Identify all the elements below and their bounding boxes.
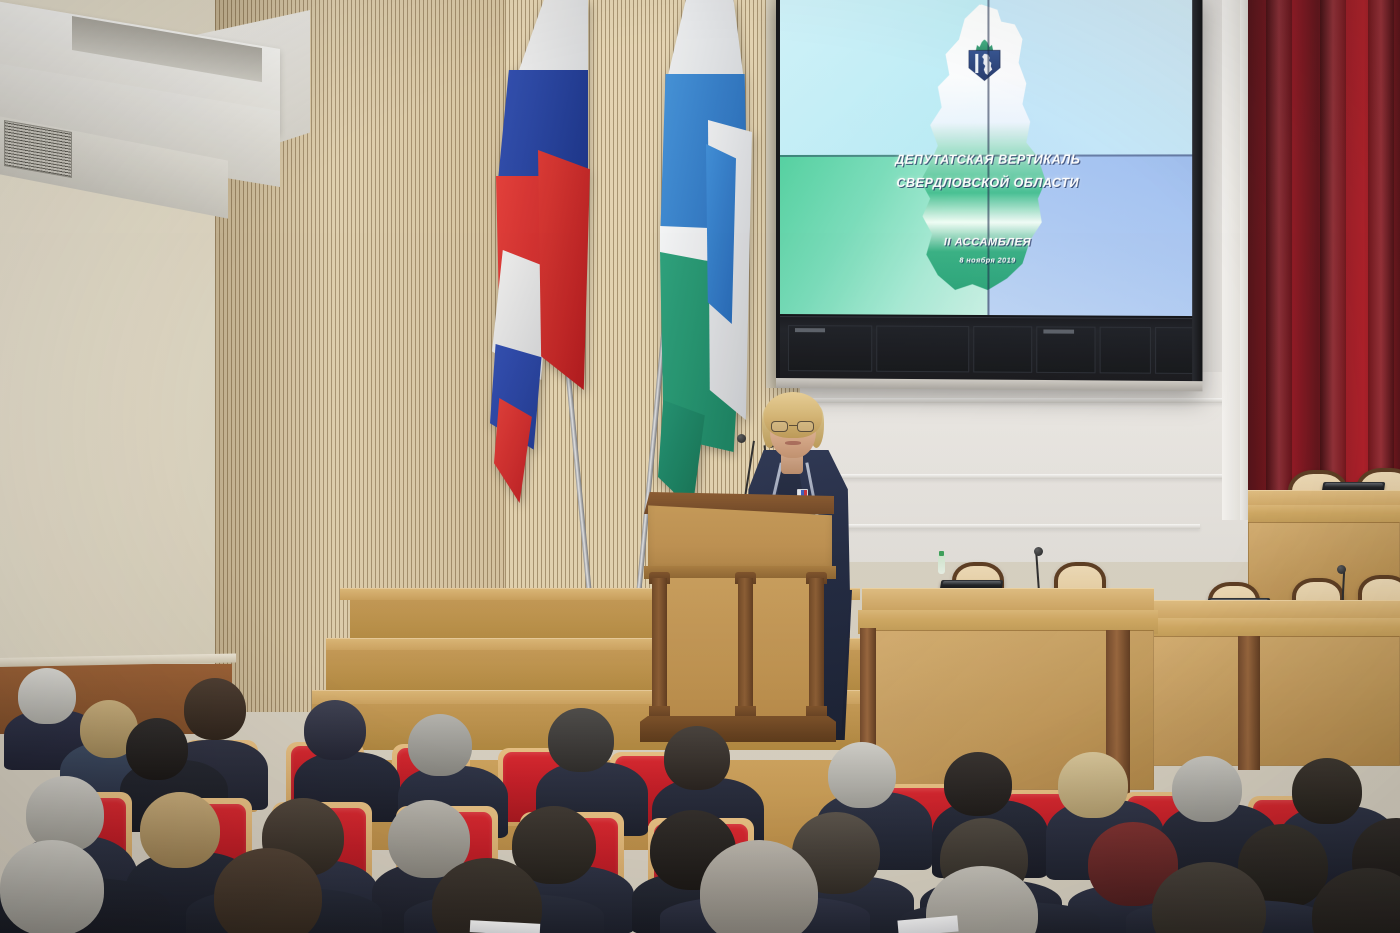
flag-oblast-band-white xyxy=(660,0,752,86)
microphone-head-left xyxy=(737,434,746,443)
podium-pilaster-right xyxy=(809,578,824,716)
wall-molding-upper xyxy=(800,398,1232,403)
flag-russia xyxy=(496,0,588,500)
attendee-head xyxy=(548,708,614,772)
attendee-head xyxy=(664,726,730,790)
curtain-fold xyxy=(1368,0,1394,520)
podium-pilaster-left xyxy=(652,578,667,716)
glasses-lens-right xyxy=(797,421,814,432)
microphone-head-presidium-front xyxy=(1034,547,1043,556)
screen-module xyxy=(788,325,872,372)
screen-display-surface: ДЕПУТАТСКАЯ ВЕРТИКАЛЬ СВЕРДЛОВСКОЙ ОБЛАС… xyxy=(780,0,1198,316)
assembly-hall-photo: ДЕПУТАТСКАЯ ВЕРТИКАЛЬ СВЕРДЛОВСКОЙ ОБЛАС… xyxy=(0,0,1400,933)
stage-curtain-red xyxy=(1248,0,1400,520)
sverdlovsk-coat-of-arms-icon xyxy=(969,39,1001,81)
attendee-head xyxy=(140,792,220,868)
speaker-glasses-icon xyxy=(771,421,815,432)
attendee-head xyxy=(408,714,472,776)
podium-desk-face xyxy=(648,504,832,574)
microphone-head-presidium-mid xyxy=(1337,565,1346,574)
crown-icon xyxy=(976,39,994,52)
water-bottle[interactable] xyxy=(938,555,945,574)
wall-molding-lower xyxy=(800,524,1200,529)
attendee-head xyxy=(1058,752,1128,818)
flag-russia-drape-red xyxy=(538,150,590,390)
screen-module-label xyxy=(795,328,825,332)
curtain-fold xyxy=(1320,0,1346,520)
wall-molding-mid xyxy=(800,474,1232,479)
attendee-head-foreground xyxy=(0,840,104,933)
attendee-head xyxy=(304,700,366,760)
screen-right-bezel xyxy=(1192,0,1202,391)
screen-module xyxy=(1036,326,1095,373)
attendee-head xyxy=(18,668,76,724)
flag-russia-band-white xyxy=(496,0,588,78)
staff-icon xyxy=(976,53,978,73)
speaker-mouth xyxy=(785,441,801,445)
attendee-head xyxy=(1172,756,1242,822)
screen-subtitle: II АССАМБЛЕЯ xyxy=(780,236,1198,249)
screen-module xyxy=(973,326,1032,373)
screen-module xyxy=(1100,327,1151,374)
podium-pilaster-center xyxy=(738,578,753,716)
attendee-head xyxy=(944,752,1012,816)
presidium-panel-mid xyxy=(1136,636,1400,766)
attendee-head xyxy=(126,718,188,780)
screen-module xyxy=(1155,327,1194,374)
screen-module xyxy=(876,326,969,373)
screen-title-line1: ДЕПУТАТСКАЯ ВЕРТИКАЛЬ xyxy=(780,153,1198,168)
attendee-head xyxy=(1292,758,1362,824)
screen-electronics-panel xyxy=(780,316,1198,381)
glasses-bridge xyxy=(789,425,797,426)
screen-module-label xyxy=(1043,329,1074,333)
screen-title-line2: СВЕРДЛОВСКОЙ ОБЛАСТИ xyxy=(780,175,1198,189)
curtain-fold xyxy=(1266,0,1292,520)
attendee-head xyxy=(184,678,246,740)
attendee-head xyxy=(828,742,896,808)
glasses-lens-left xyxy=(771,421,788,432)
presidium-pilaster-mid xyxy=(1238,636,1260,770)
flag-oblast-drape-blue xyxy=(706,144,736,324)
led-video-wall[interactable]: ДЕПУТАТСКАЯ ВЕРТИКАЛЬ СВЕРДЛОВСКОЙ ОБЛАС… xyxy=(776,0,1202,391)
screen-date: 8 ноября 2019 xyxy=(780,255,1198,265)
